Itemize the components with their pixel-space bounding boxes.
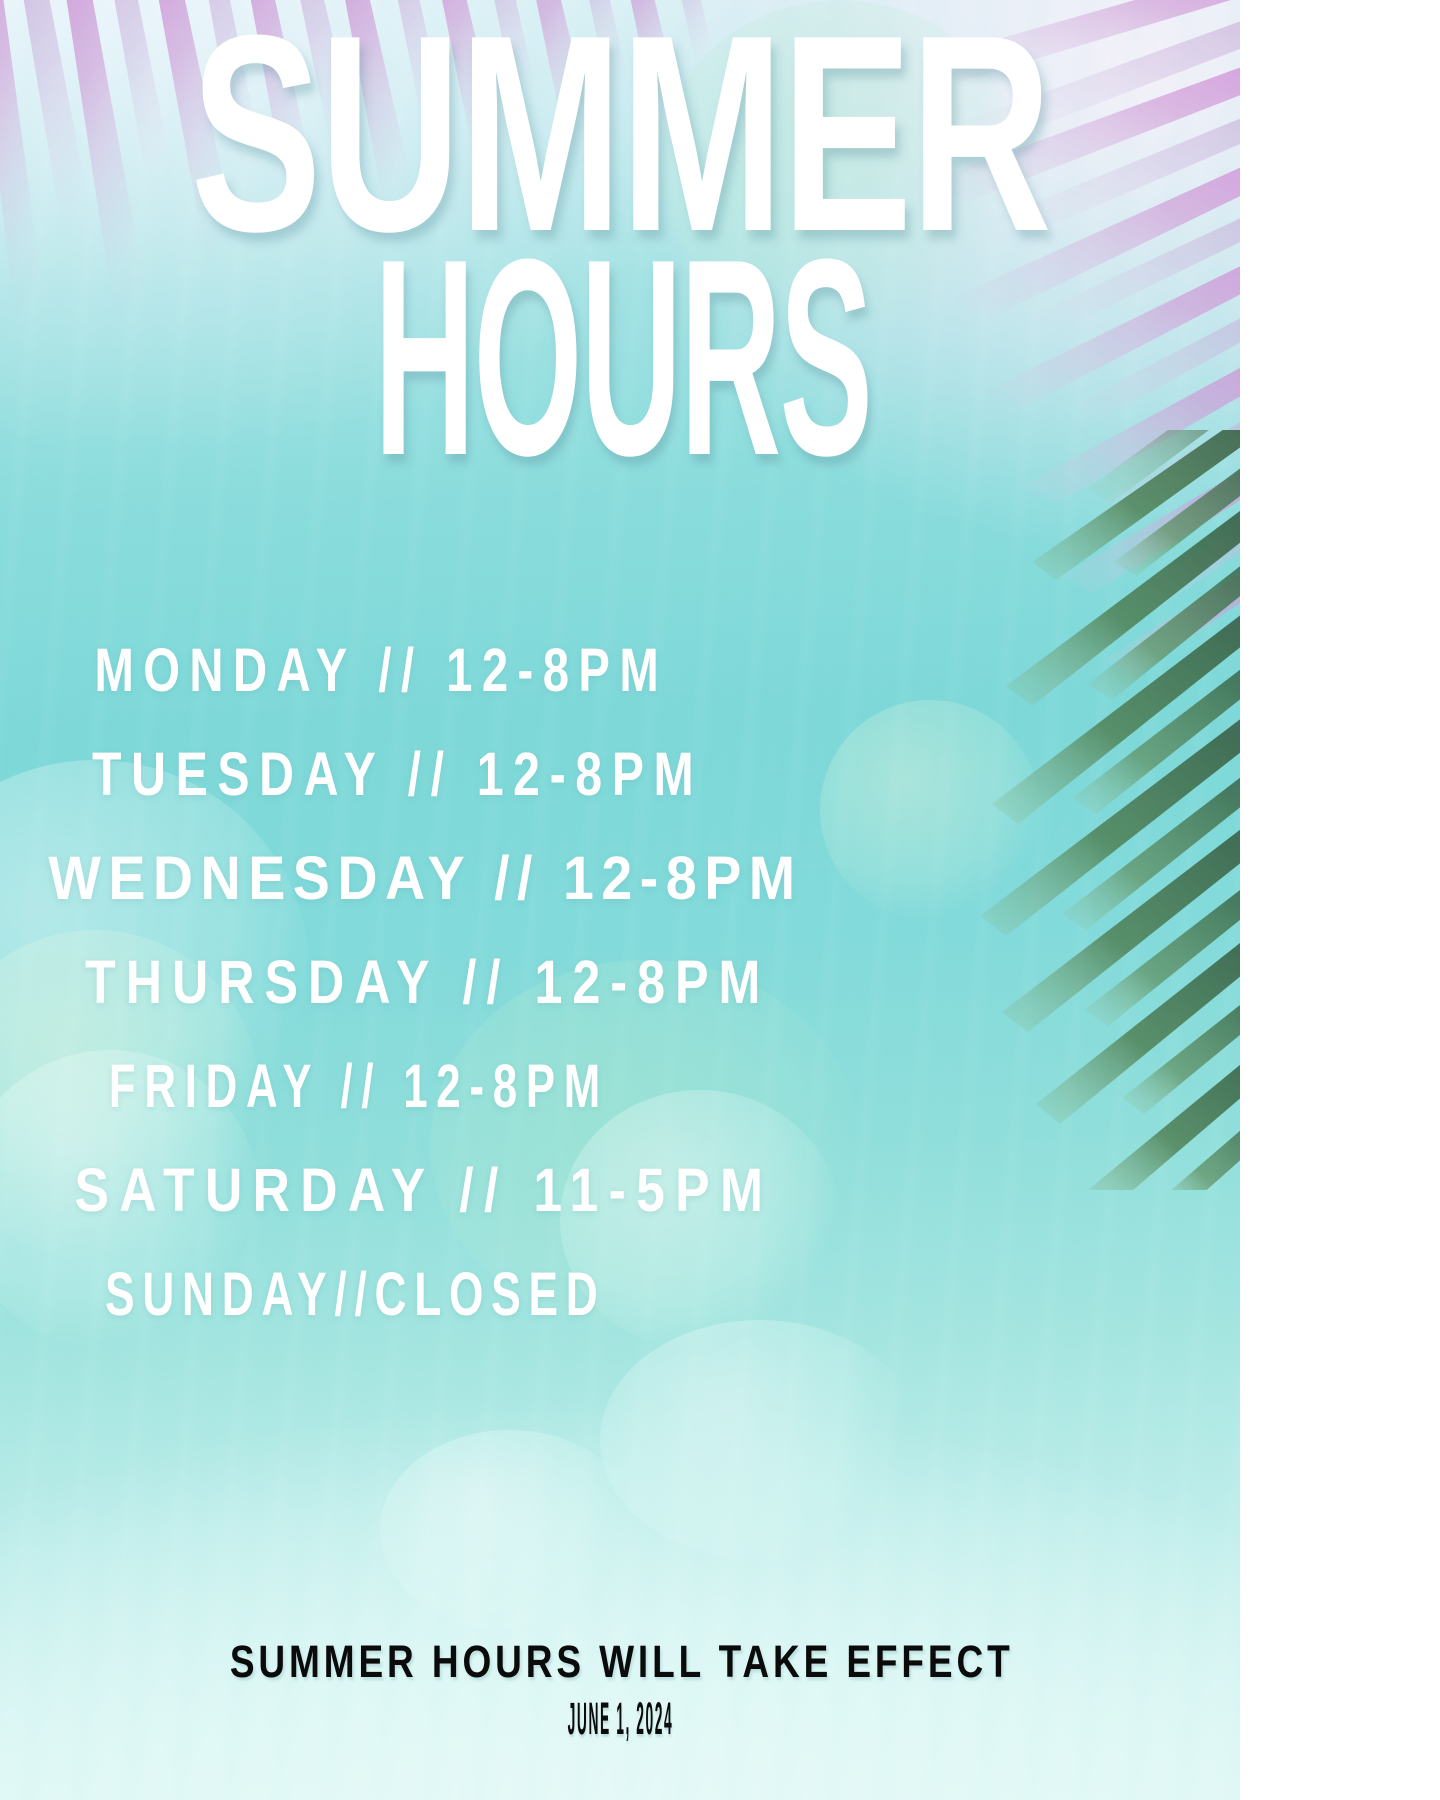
effective-date-note: SUMMER HOURS WILL TAKE EFFECT JUNE 1, 20… (0, 1633, 1240, 1748)
schedule-row-sunday: SUNDAY//CLOSED (96, 1264, 605, 1368)
poster-title: SUMMER HOURS (0, 22, 1240, 470)
summer-hours-poster: SUMMER HOURS MONDAY // 12-8PM TUESDAY //… (0, 0, 1240, 1800)
schedule-row-saturday: SATURDAY // 11-5PM (64, 1160, 773, 1264)
schedule-row-wednesday: WEDNESDAY // 12-8PM (37, 848, 802, 952)
schedule-row-friday: FRIDAY // 12-8PM (100, 1056, 609, 1160)
bokeh-circle (380, 1430, 640, 1630)
effective-date-line-2: JUNE 1, 2024 (566, 1690, 673, 1748)
title-line-hours: HOURS (369, 246, 871, 470)
schedule-list: MONDAY // 12-8PM TUESDAY // 12-8PM WEDNE… (0, 640, 1240, 1368)
effective-date-line-1: SUMMER HOURS WILL TAKE EFFECT (226, 1633, 1014, 1691)
schedule-row-monday: MONDAY // 12-8PM (85, 640, 668, 744)
schedule-row-tuesday: TUESDAY // 12-8PM (82, 744, 703, 848)
schedule-row-thursday: THURSDAY // 12-8PM (75, 952, 770, 1056)
